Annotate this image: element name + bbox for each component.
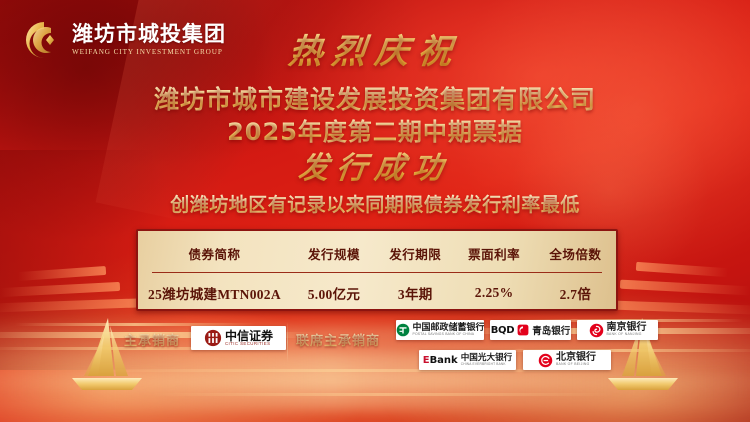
logo-chip-citic-securities: 中信证券 CITIC SECURITIES [191,326,286,350]
logo-chip-name-en: BANK OF NANJING [607,333,642,336]
logo-chip-wordmark: BQD [491,325,515,336]
table-header-cell: 债券简称 [138,231,291,272]
table-cell-tenor: 3年期 [377,273,453,313]
table-cell-subscription-multiple: 2.7倍 [535,273,616,313]
celebration-poster: 潍坊市城投集团 WEIFANG CITY INVESTMENT GROUP 热烈… [0,0,750,422]
bond-table: 债券简称 发行规模 发行期限 票面利率 全场倍数 [138,231,616,272]
joint-underwriter-label: 联席主承销商 [296,330,380,349]
light-ray-icon [0,376,750,410]
underwriter-divider [287,322,288,362]
citic-securities-logo-icon [204,329,222,347]
headline-brush-top: 热烈庆祝 [0,24,750,73]
logo-chip-bank-of-beijing: 北京银行 BANK OF BEIJING [523,350,611,370]
headline-brush-bottom: 发行成功 [0,143,750,187]
logo-chip-name-cn: 中信证券 [225,330,273,342]
logo-chip-bank-of-nanjing: 南京银行 BANK OF NANJING [577,320,658,340]
table-cell-bond-name: 25潍坊城建MTN002A [138,273,291,313]
logo-chip-bank-of-qingdao: BQD 青岛银行 [490,320,571,340]
postal-savings-bank-logo-icon [396,323,410,337]
table-cell-issue-size: 5.00亿元 [291,273,377,313]
table-header-cell: 发行期限 [377,231,453,272]
bank-of-qingdao-logo-icon [517,324,529,336]
bond-info-card: 债券简称 发行规模 发行期限 票面利率 全场倍数 25潍坊城建MTN002A 5… [136,229,618,311]
logo-chip-name-cn: 青岛银行 [532,323,570,337]
headline-instrument: 2025年度第二期中期票据 [0,112,750,147]
table-header-cell: 票面利率 [453,231,534,272]
logo-chip-name-en: POSTAL SAVINGS BANK OF CHINA [413,333,475,336]
ray-shard-decor [0,282,120,297]
table-header-cell: 全场倍数 [535,231,616,272]
headline-achievement: 创潍坊地区有记录以来同期限债券发行利率最低 [0,190,750,217]
bond-table-body: 25潍坊城建MTN002A 5.00亿元 3年期 2.25% 2.7倍 [138,273,616,313]
ray-shard-decor [0,298,140,312]
wordmark-rest: Bank [430,355,458,366]
table-header-row: 债券简称 发行规模 发行期限 票面利率 全场倍数 [138,231,616,272]
ray-shard-decor [18,266,106,281]
logo-chip-name-en: BANK OF BEIJING [556,363,590,366]
lead-underwriter-label: 主承销商 [124,330,180,349]
logo-chip-name-en: CHINA EVERBRIGHT BANK [461,363,506,366]
logo-chip-postal-savings-bank: 中国邮政储蓄银行 POSTAL SAVINGS BANK OF CHINA [396,320,484,340]
logo-chip-wordmark: EBank [423,355,458,366]
ray-shard-decor [620,280,750,296]
bank-of-beijing-logo-icon [538,353,553,368]
ray-shard-decor [602,300,750,315]
bank-of-nanjing-logo-icon [589,323,604,338]
table-cell-coupon-rate: 2.25% [453,273,534,313]
table-row: 25潍坊城建MTN002A 5.00亿元 3年期 2.25% 2.7倍 [138,273,616,313]
wordmark-accent: E [423,355,430,366]
logo-chip-china-everbright-bank: EBank 中国光大银行 CHINA EVERBRIGHT BANK [419,350,516,370]
ray-shard-decor [636,262,728,277]
logo-chip-name-en: CITIC SECURITIES [225,342,270,346]
headline-company: 潍坊市城市建设发展投资集团有限公司 [0,80,750,116]
table-header-cell: 发行规模 [291,231,377,272]
light-ray-icon [150,393,615,396]
